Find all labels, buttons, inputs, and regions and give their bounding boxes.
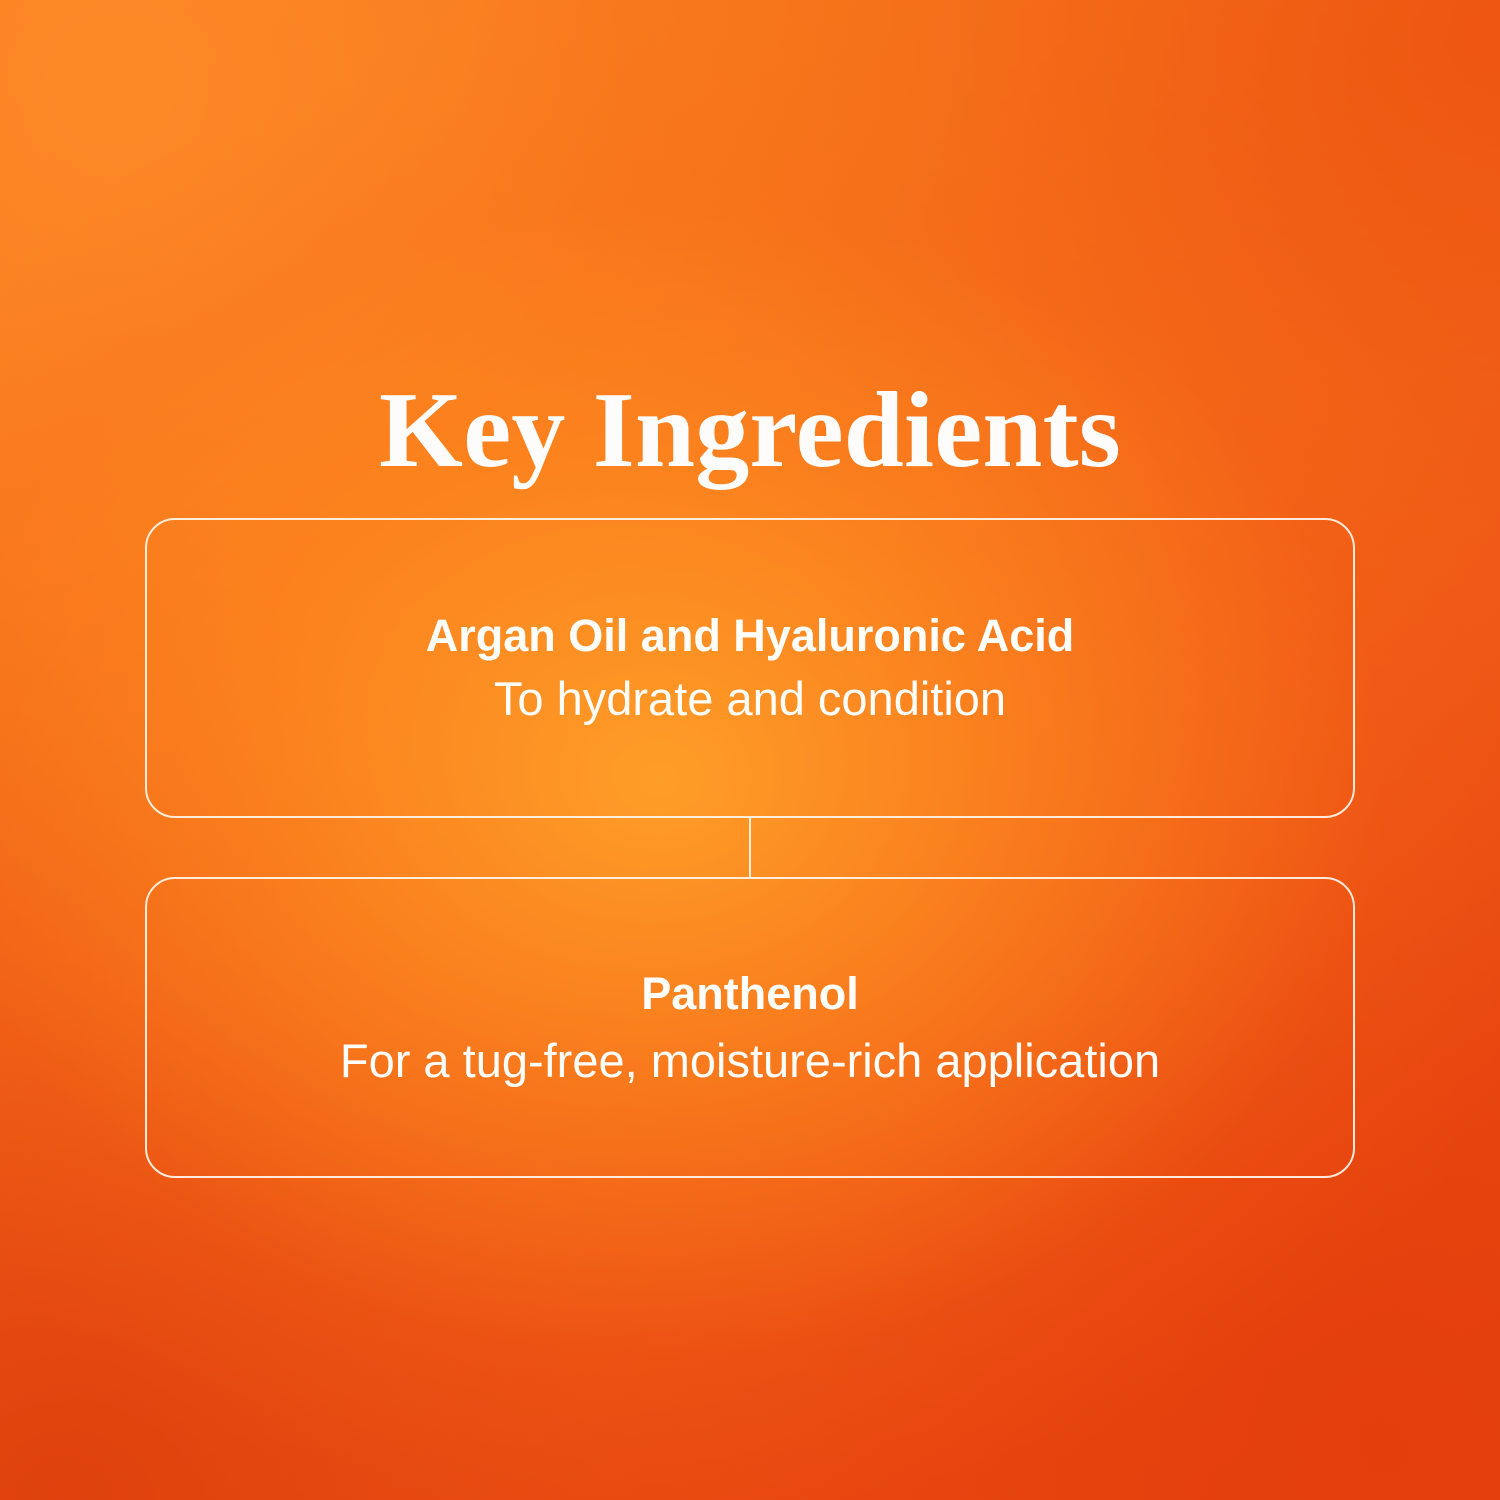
card-connector-line xyxy=(749,817,751,878)
ingredient-name: Panthenol xyxy=(641,966,859,1022)
ingredient-card-argan-oil-hyaluronic-acid: Argan Oil and Hyaluronic Acid To hydrate… xyxy=(145,518,1355,818)
ingredient-benefit: To hydrate and condition xyxy=(494,670,1006,728)
ingredient-card-panthenol: Panthenol For a tug-free, moisture-rich … xyxy=(145,877,1355,1178)
key-ingredients-infographic: Key Ingredients Argan Oil and Hyaluronic… xyxy=(0,0,1500,1500)
ingredient-benefit: For a tug-free, moisture-rich applicatio… xyxy=(340,1032,1160,1090)
page-title: Key Ingredients xyxy=(0,372,1500,490)
ingredient-name: Argan Oil and Hyaluronic Acid xyxy=(426,608,1074,664)
